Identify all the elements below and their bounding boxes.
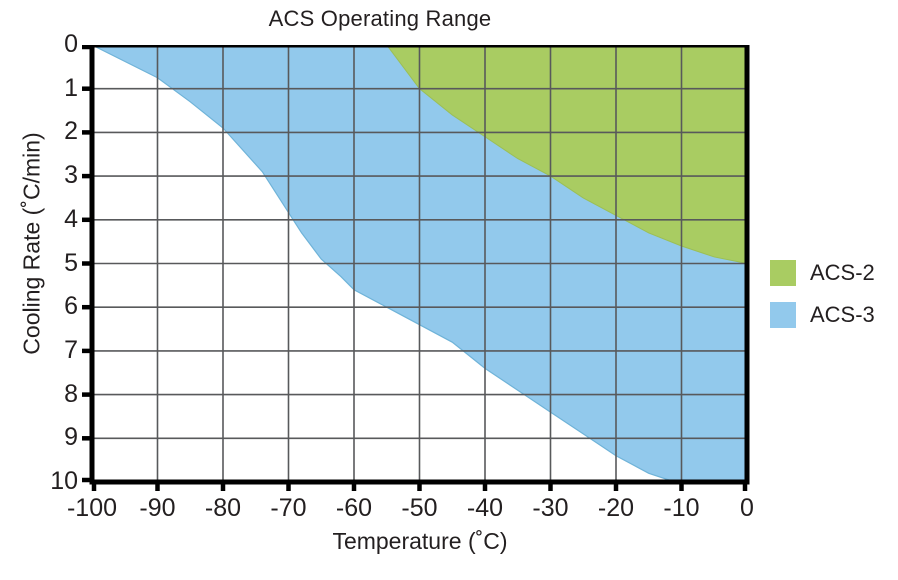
- legend: ACS-2ACS-3: [770, 252, 875, 336]
- legend-item[interactable]: ACS-2: [770, 252, 875, 294]
- y-tick-label: 9: [30, 425, 78, 450]
- legend-label: ACS-2: [810, 260, 875, 286]
- y-tick-label: 5: [30, 251, 78, 276]
- x-axis-label: Temperature (˚C): [92, 528, 748, 555]
- x-tick-label: -80: [188, 496, 258, 521]
- y-tick-label: 2: [30, 119, 78, 144]
- x-tick-label: -20: [581, 496, 651, 521]
- x-tick-label: -90: [123, 496, 193, 521]
- y-tick-label: 10: [30, 469, 78, 494]
- x-tick-label: -40: [450, 496, 520, 521]
- y-tick-label: 8: [30, 382, 78, 407]
- legend-item[interactable]: ACS-3: [770, 294, 875, 336]
- x-tick-label: -70: [254, 496, 324, 521]
- y-tick-label: 6: [30, 294, 78, 319]
- x-tick-label: -30: [516, 496, 586, 521]
- legend-label: ACS-3: [810, 302, 875, 328]
- legend-swatch: [770, 260, 796, 286]
- chart-root: ACS Operating Range Cooling Rate (˚C/min…: [0, 0, 898, 580]
- y-tick-label: 1: [30, 76, 78, 101]
- x-tick-label: -100: [57, 496, 127, 521]
- y-tick-label: 7: [30, 338, 78, 363]
- y-tick-label: 0: [30, 32, 78, 57]
- x-tick-label: -60: [319, 496, 389, 521]
- y-tick-label: 4: [30, 207, 78, 232]
- chart-title: ACS Operating Range: [0, 6, 760, 32]
- plot-svg: [80, 45, 759, 497]
- x-tick-label: -50: [385, 496, 455, 521]
- x-tick-label: 0: [712, 496, 782, 521]
- plot-area: [80, 45, 759, 497]
- legend-swatch: [770, 302, 796, 328]
- x-tick-label: -10: [647, 496, 717, 521]
- y-tick-label: 3: [30, 163, 78, 188]
